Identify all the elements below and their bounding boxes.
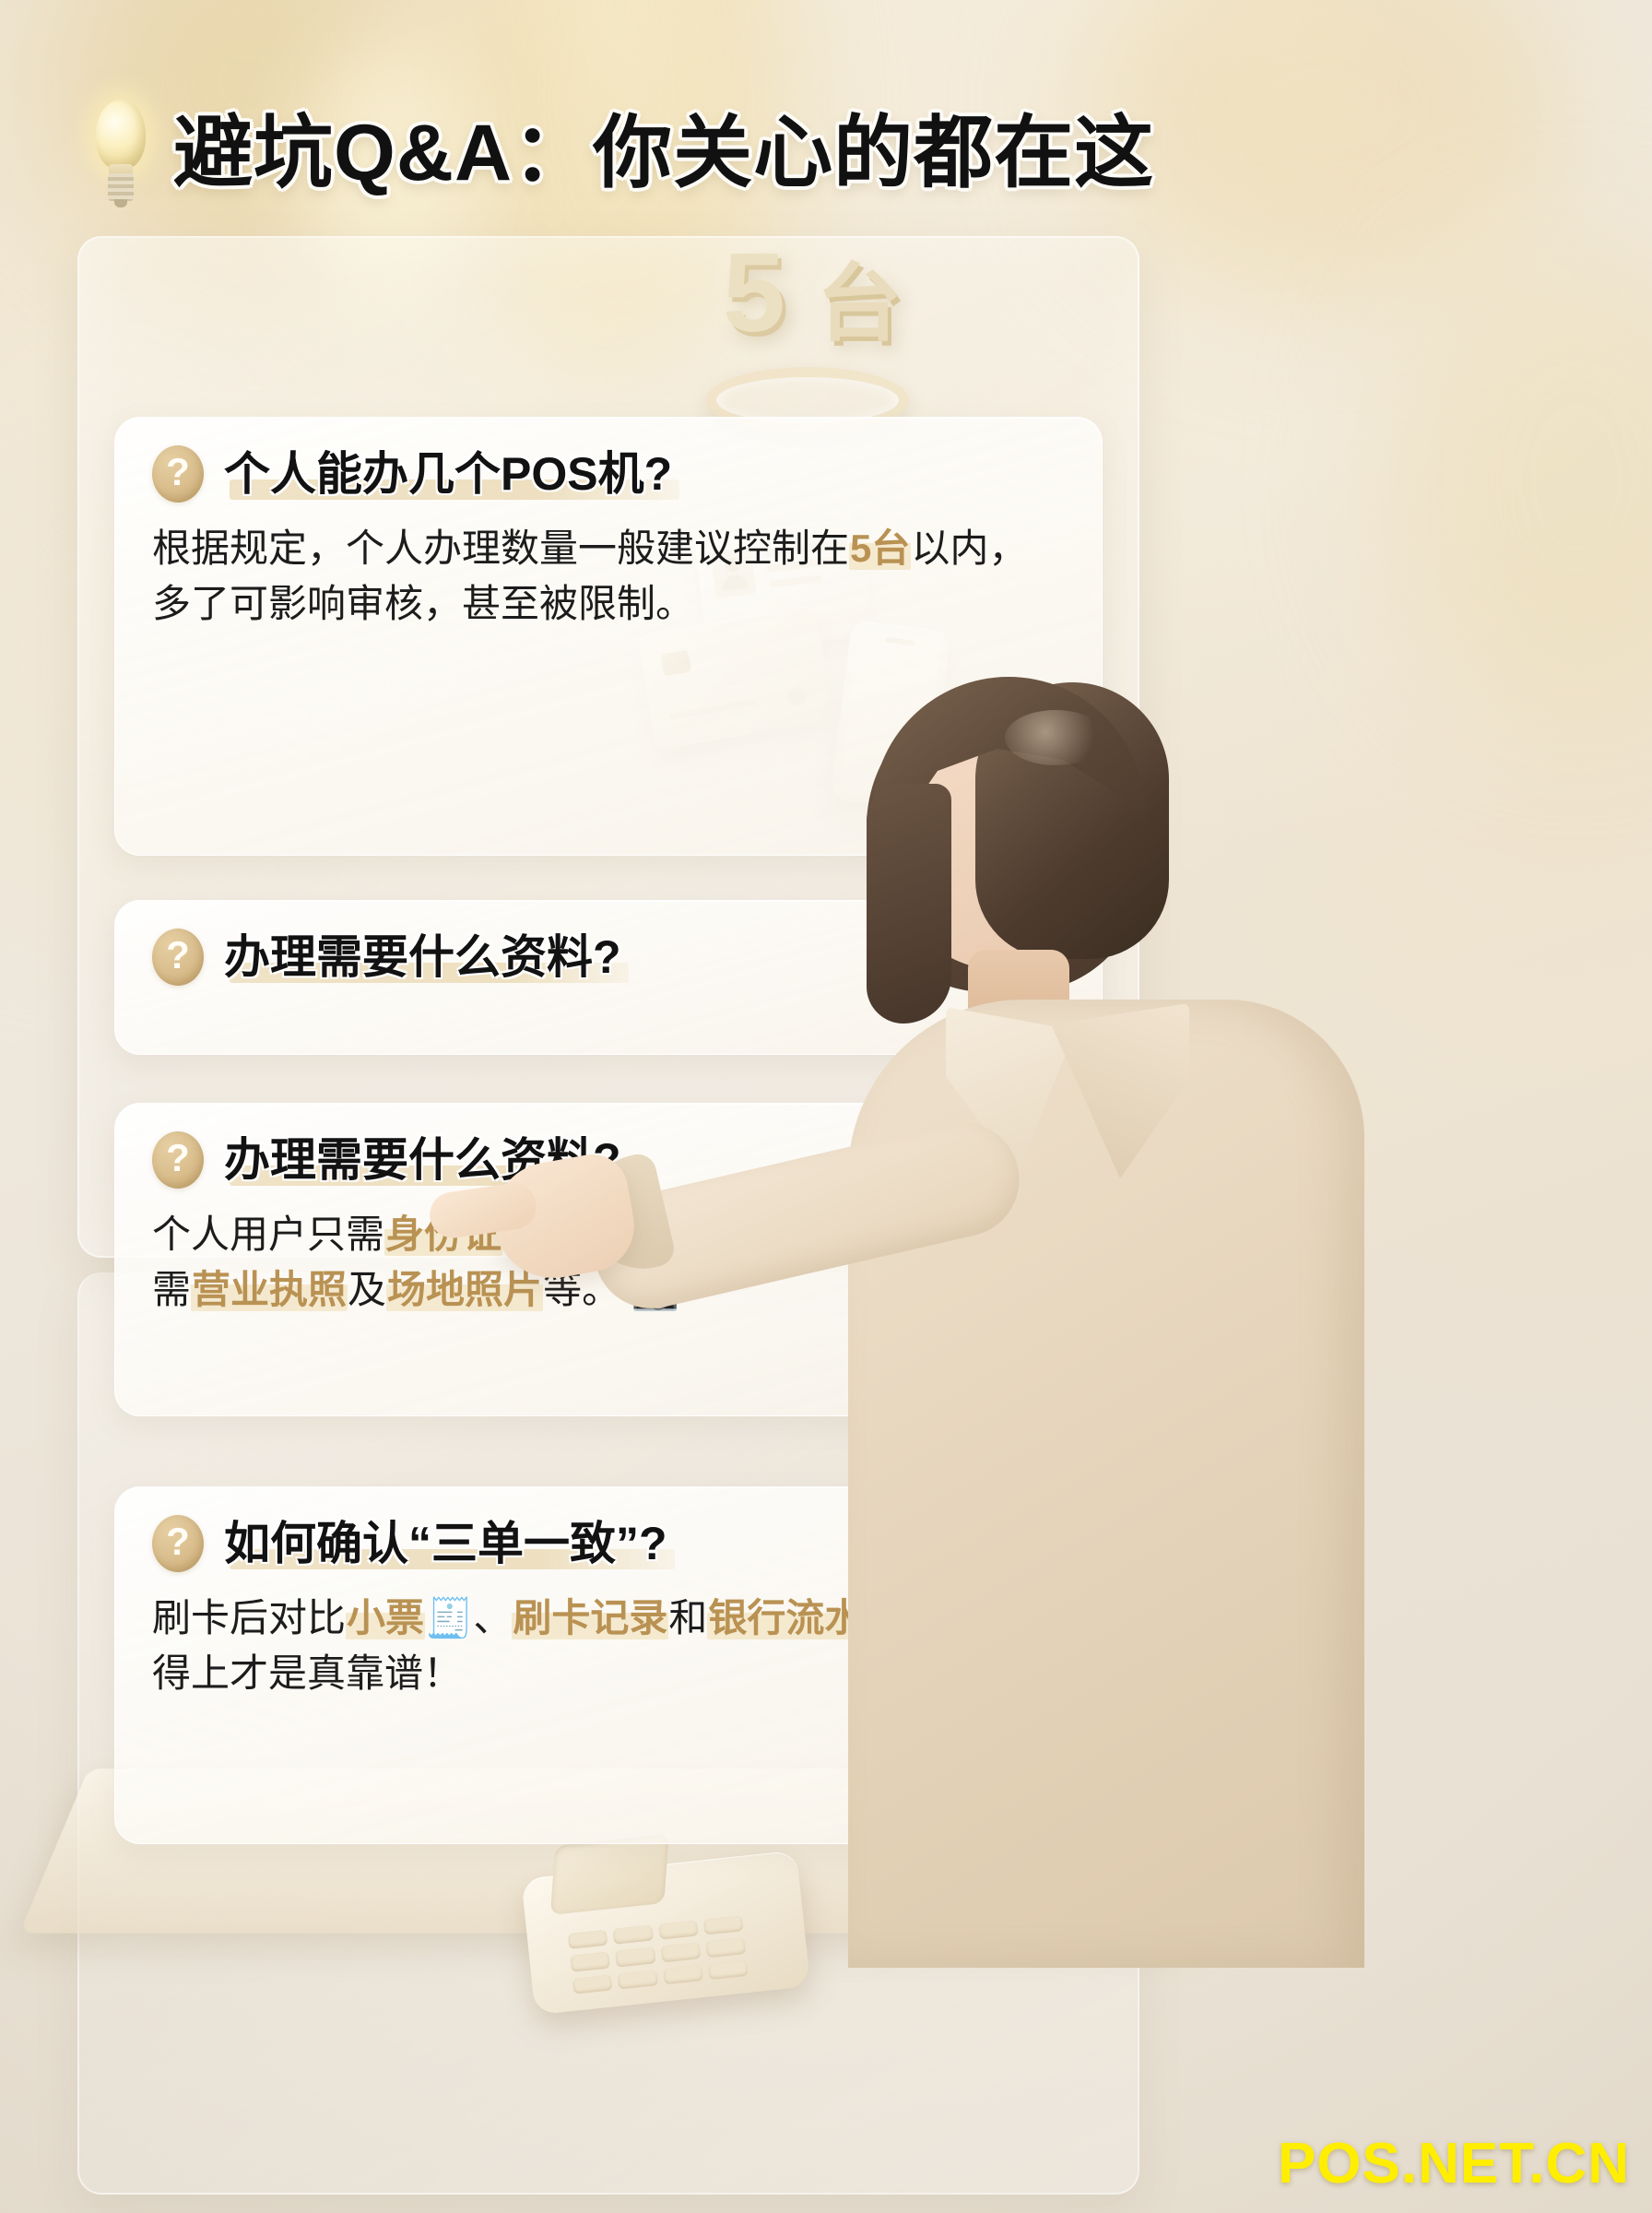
question-text: 如何确认“三单一致”?	[224, 1518, 667, 1569]
question-highlight-wrap: 办理需要什么资料?	[224, 930, 621, 985]
answer-plain: 根据规定，个人办理数量一般建议控制在	[152, 527, 849, 570]
answer-highlight: 营业执照	[191, 1268, 348, 1311]
answer-plain: 及	[348, 1268, 386, 1311]
answer-plain: 和	[668, 1596, 707, 1639]
answer-text: 根据规定，个人办理数量一般建议控制在5台以内，多了可影响审核，甚至被限制。	[152, 521, 1061, 631]
site-watermark: POS.NET.CN	[1278, 2131, 1630, 2196]
answer-plain: 刷卡后对比	[152, 1596, 346, 1639]
answer-highlight: 小票	[346, 1596, 425, 1639]
lightbulb-icon	[88, 100, 153, 207]
answer-highlight: 5台	[849, 527, 911, 570]
answer-highlight: 刷卡记录	[512, 1596, 668, 1639]
answer-plain: 个人用户只需	[152, 1213, 384, 1256]
page-title-bar: 避坑Q&A：你关心的都在这	[0, 89, 1198, 218]
question-mark-icon: ?	[152, 1131, 204, 1189]
question-text: 个人能办几个POS机?	[224, 448, 672, 500]
question-mark-icon: ?	[152, 1515, 204, 1572]
hair-highlight	[1005, 710, 1106, 765]
question-text: 办理需要什么资料?	[224, 931, 621, 983]
question-mark-icon: ?	[152, 929, 204, 986]
hair-side	[867, 784, 951, 1024]
question-mark-icon: ?	[152, 445, 204, 503]
page-title: 避坑Q&A：你关心的都在这	[173, 112, 1154, 195]
answer-highlight: 银行流水	[707, 1596, 864, 1639]
answer-highlight: 场地照片	[386, 1268, 543, 1311]
person-illustration	[867, 645, 1652, 2213]
answer-plain: 🧾、	[425, 1596, 512, 1639]
question-highlight-wrap: 个人能办几个POS机?	[224, 447, 672, 502]
question-row: ? 个人能办几个POS机?	[152, 445, 1061, 503]
question-highlight-wrap: 如何确认“三单一致”?	[224, 1517, 667, 1571]
